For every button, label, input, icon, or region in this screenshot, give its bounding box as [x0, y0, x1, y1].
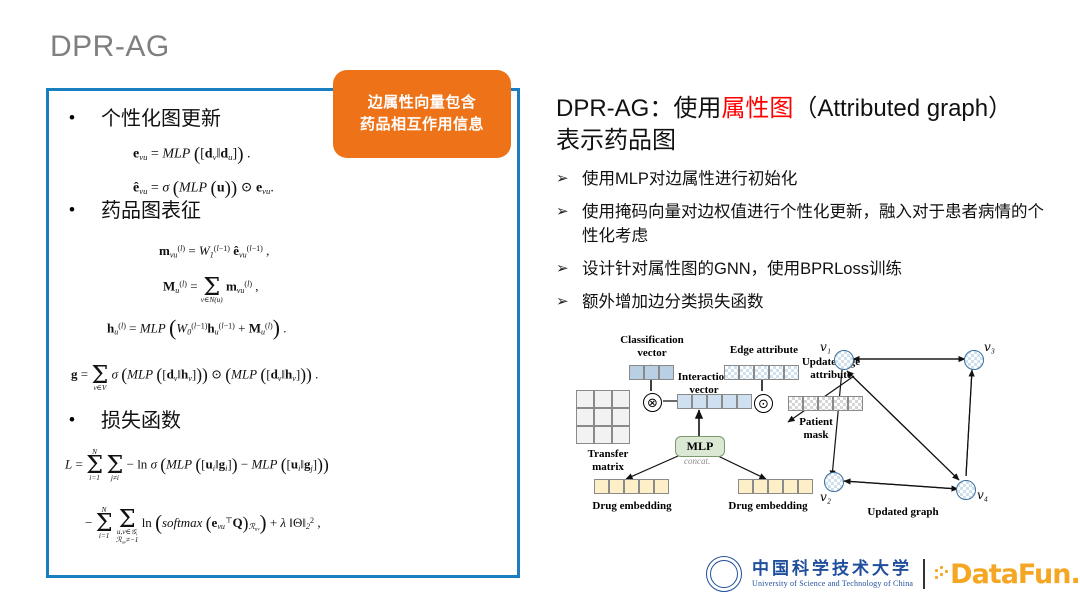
concat-label: concat.	[684, 456, 710, 466]
callout-badge: 边属性向量包含 药品相互作用信息	[333, 70, 511, 158]
list-item-text: 使用MLP对边属性进行初始化	[582, 168, 797, 192]
list-item: ➢ 使用掩码向量对边权值进行个性化更新，融入对于患者病情的个性化考虑	[556, 201, 1056, 249]
page-title: DPR-AG	[50, 30, 170, 64]
list-item-text: 设计针对属性图的GNN，使用BPRLoss训练	[582, 258, 902, 282]
list-item: • 损失函数	[69, 411, 181, 431]
graph-node-v4-label: 𝑣₄	[977, 488, 988, 503]
arrow-bullet-icon: ➢	[556, 258, 582, 280]
equation-h-u: hu(l) = MLP (W0(l−1)hu(l−1) + Mu(l)) .	[107, 315, 287, 341]
heading-line-2: 表示药品图	[556, 127, 676, 154]
ustc-name-cn: 中国科学技术大学	[752, 560, 913, 579]
graph-node-v3	[964, 350, 984, 370]
graph-node-v3-label: 𝑣₃	[984, 340, 995, 355]
classification-vector-label: Classificationvector	[606, 334, 698, 359]
equation-e-hat-vu: êvu = σ (MLP (u)) ⊙ evu.	[133, 178, 274, 200]
list-item-text: 使用掩码向量对边权值进行个性化更新，融入对于患者病情的个性化考虑	[582, 201, 1056, 249]
heading-highlight: 属性图	[721, 95, 793, 122]
datafun-dots-icon	[935, 565, 949, 583]
drug-embedding-right-label: Drug embedding	[712, 500, 824, 513]
graph-node-v2	[824, 472, 844, 492]
equation-loss-term2: − NΣi=1 Σu,v∈𝒢iℛuv≠−1 ln (softmax (evu⊤Q…	[85, 503, 321, 545]
equation-g: g = Σv∈V σ (MLP ([dv‖hv])) ⊙ (MLP ([dv‖h…	[71, 359, 318, 392]
ustc-wordmark: 中国科学技术大学 University of Science and Techn…	[752, 560, 913, 588]
list-item: ➢ 额外增加边分类损失函数	[556, 291, 1056, 315]
tensor-product-icon: ⊗	[643, 393, 662, 412]
list-item: • 个性化图更新	[69, 109, 221, 129]
right-heading: DPR-AG：使用属性图（Attributed graph） 表示药品图	[556, 93, 1056, 156]
heading-pre: DPR-AG：使用	[556, 95, 721, 122]
drug-embedding-right-cells	[738, 479, 813, 494]
bullet-label: 个性化图更新	[101, 109, 221, 129]
callout-line-2: 药品相互作用信息	[360, 114, 484, 136]
bullet-label: 药品图表征	[101, 201, 201, 221]
ustc-seal-icon	[706, 556, 742, 592]
list-item: • 药品图表征	[69, 201, 201, 221]
patient-mask-cells	[788, 396, 863, 411]
bullet-label: 损失函数	[101, 411, 181, 431]
datafun-wordmark: DataFun.	[950, 559, 1080, 590]
update-edge-attribute-label: Update edgeattribute	[792, 356, 870, 381]
equation-M-u: Mu(l) = Σv∈N(u) mvu(l) ,	[163, 271, 259, 304]
hadamard-product-icon: ⊙	[754, 394, 773, 413]
transfer-matrix-label: Transfermatrix	[568, 448, 648, 473]
bullet-marker: •	[69, 411, 83, 428]
edge-attribute-label: Edge attribute	[714, 344, 814, 357]
edge-attribute-cells	[724, 365, 799, 380]
graph-node-v2-label: 𝑣₂	[820, 490, 831, 505]
equation-m-vu: mvu(l) = W1(l−1) êvu(l−1) ,	[159, 243, 269, 259]
equation-e-vu: evu = MLP ([dv‖du]) .	[133, 144, 250, 166]
callout-line-1: 边属性向量包含	[368, 92, 477, 114]
updated-graph-label: Updated graph	[853, 506, 953, 519]
arrow-bullet-icon: ➢	[556, 201, 582, 223]
list-item-text: 额外增加边分类损失函数	[582, 291, 764, 315]
bullet-marker: •	[69, 201, 83, 218]
drug-embedding-left-label: Drug embedding	[576, 500, 688, 513]
ustc-name-en: University of Science and Technology of …	[752, 579, 913, 588]
heading-post: （Attributed graph）	[793, 95, 1012, 122]
architecture-diagram: Classificationvector Transfermatrix ⊗ In…	[566, 338, 1056, 538]
left-content-panel: • 个性化图更新 evu = MLP ([dv‖du]) . êvu = σ (…	[46, 88, 520, 578]
list-item: ➢ 使用MLP对边属性进行初始化	[556, 168, 1056, 192]
arrow-bullet-icon: ➢	[556, 168, 582, 190]
right-bullet-list: ➢ 使用MLP对边属性进行初始化 ➢ 使用掩码向量对边权值进行个性化更新，融入对…	[556, 168, 1056, 324]
arrow-bullet-icon: ➢	[556, 291, 582, 313]
patient-mask-label: Patientmask	[789, 416, 843, 441]
logo-divider	[923, 559, 925, 589]
footer-logos: 中国科学技术大学 University of Science and Techn…	[706, 556, 1080, 592]
interaction-vector-cells	[677, 394, 752, 409]
transfer-matrix-cells	[576, 390, 630, 444]
graph-node-v1	[834, 350, 854, 370]
graph-node-v4	[956, 480, 976, 500]
equation-loss-term1: L = NΣi=1 Σj≠i − ln σ (MLP ([ui‖gi]) − M…	[65, 449, 329, 482]
list-item: ➢ 设计针对属性图的GNN，使用BPRLoss训练	[556, 258, 1056, 282]
drug-embedding-left-cells	[594, 479, 669, 494]
datafun-logo: DataFun.	[935, 559, 1080, 590]
mlp-box: MLP	[675, 436, 725, 457]
bullet-marker: •	[69, 109, 83, 126]
graph-node-v1-label: 𝑣₁	[820, 340, 831, 355]
